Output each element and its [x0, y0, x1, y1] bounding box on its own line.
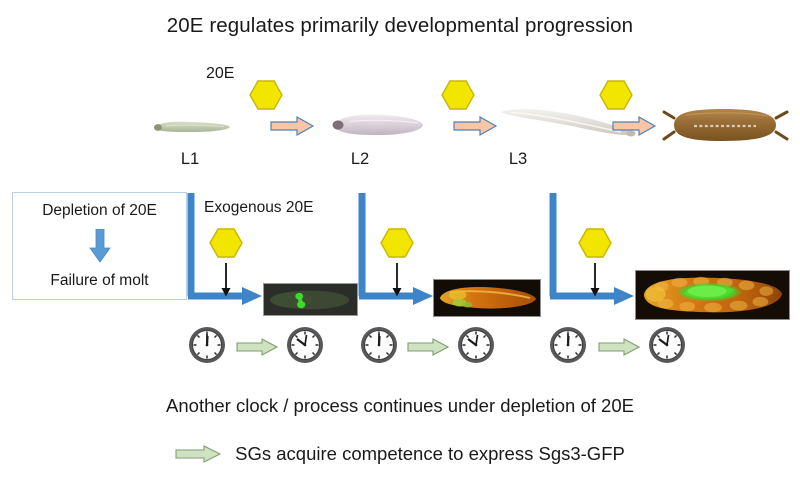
- hexagon-icon: [441, 78, 475, 112]
- hormone-label-20e: 20E: [206, 65, 234, 83]
- fluorescence-l2-image: [433, 279, 541, 317]
- clock-before-icon: [548, 325, 588, 365]
- depletion-box-line1: Depletion of 20E: [13, 202, 186, 220]
- green-arrow-icon: [236, 338, 278, 356]
- depletion-box: Depletion of 20E Failure of molt: [12, 192, 187, 300]
- fluorescence-l1-image: [263, 283, 358, 316]
- down-arrow-icon: [89, 229, 111, 268]
- clock-after-icon: [285, 325, 325, 365]
- hexagon-icon: [380, 226, 414, 260]
- green-arrow-icon: [598, 338, 640, 356]
- peach-arrow-icon: [453, 116, 497, 136]
- pupa-image: [660, 106, 790, 144]
- clock-before-icon: [187, 325, 227, 365]
- stage-label-l1: L1: [160, 150, 220, 169]
- stage-label-l2: L2: [330, 150, 390, 169]
- depletion-box-line2: Failure of molt: [13, 272, 186, 290]
- legend-row: SGs acquire competence to express Sgs3-G…: [0, 443, 800, 465]
- clock-after-icon: [456, 325, 496, 365]
- peach-arrow-icon: [612, 116, 656, 136]
- larva-l1-image: [152, 118, 232, 136]
- peach-arrow-icon: [270, 116, 314, 136]
- down-arrow-icon: [219, 263, 233, 302]
- clock-after-icon: [647, 325, 687, 365]
- exogenous-20e-label: Exogenous 20E: [204, 199, 313, 217]
- caption-line: Another clock / process continues under …: [0, 395, 800, 417]
- down-arrow-icon: [390, 263, 404, 302]
- larva-l2-image: [330, 112, 426, 138]
- green-arrow-icon: [175, 445, 221, 463]
- legend-text: SGs acquire competence to express Sgs3-G…: [235, 443, 625, 465]
- figure-title: 20E regulates primarily developmental pr…: [0, 14, 800, 38]
- clock-before-icon: [359, 325, 399, 365]
- hexagon-icon: [209, 226, 243, 260]
- down-arrow-icon: [588, 263, 602, 302]
- stage-label-l3: L3: [488, 150, 548, 169]
- green-arrow-icon: [407, 338, 449, 356]
- fluorescence-l3-image: [635, 270, 790, 320]
- hexagon-icon: [249, 78, 283, 112]
- hexagon-icon: [578, 226, 612, 260]
